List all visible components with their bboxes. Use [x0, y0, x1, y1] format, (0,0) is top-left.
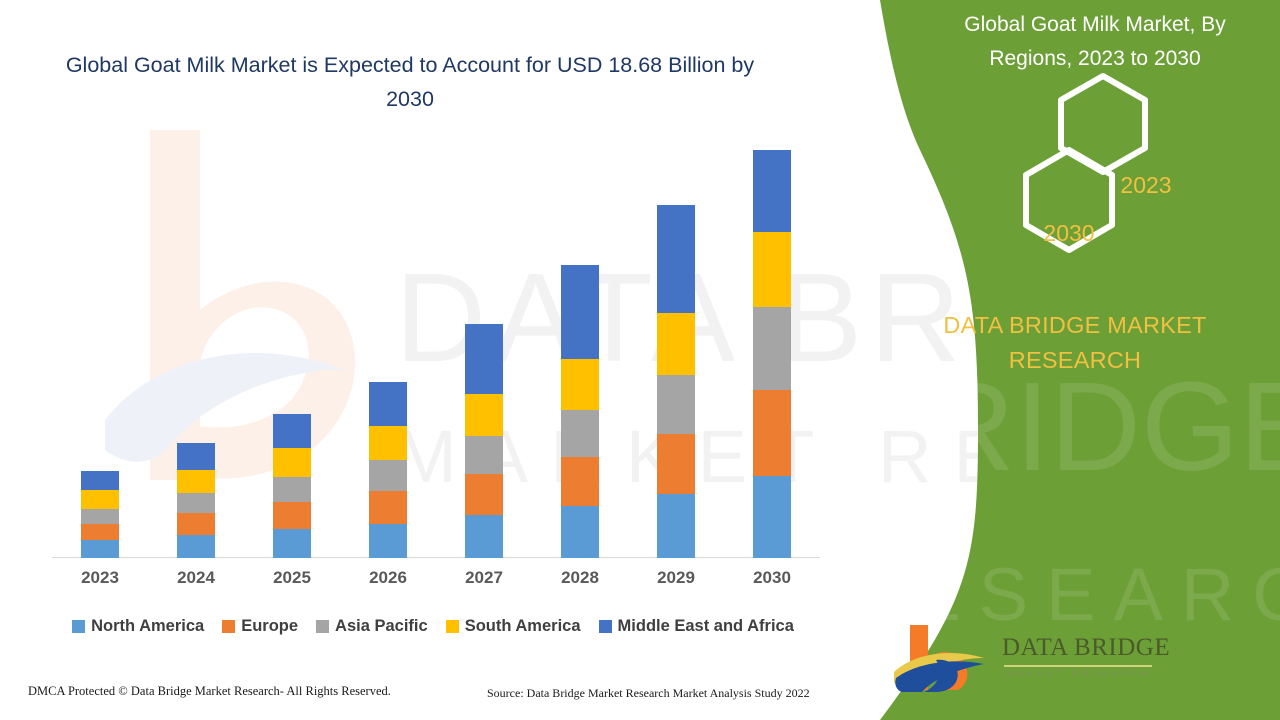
- bar-segment: [273, 502, 311, 530]
- bar-column: [561, 265, 599, 558]
- logo-subtitle: MARKET RESEARCH: [1006, 668, 1153, 678]
- x-axis-tick-label: 2028: [532, 568, 628, 588]
- bar-series-container: [52, 140, 820, 558]
- bar-column: [81, 471, 119, 558]
- legend-label: Middle East and Africa: [618, 617, 794, 636]
- bar-segment: [753, 307, 791, 390]
- bar-column: [177, 443, 215, 558]
- bar-segment: [465, 436, 503, 475]
- bar-column: [753, 150, 791, 558]
- bar-segment: [465, 324, 503, 394]
- footer-copyright: DMCA Protected © Data Bridge Market Rese…: [28, 684, 391, 699]
- bar-segment: [657, 375, 695, 433]
- legend-swatch-icon: [599, 620, 612, 633]
- x-axis-tick-label: 2023: [52, 568, 148, 588]
- data-bridge-b-logo: [892, 620, 992, 695]
- legend-item[interactable]: South America: [446, 617, 581, 636]
- bar-segment: [369, 426, 407, 460]
- bar-segment: [177, 470, 215, 493]
- bar-segment: [753, 476, 791, 559]
- bar-segment: [81, 490, 119, 509]
- bar-segment: [369, 491, 407, 524]
- legend-swatch-icon: [446, 620, 459, 633]
- bar-segment: [657, 434, 695, 495]
- footer-source: Source: Data Bridge Market Research Mark…: [487, 686, 810, 701]
- bar-segment: [273, 448, 311, 477]
- bar-column: [465, 324, 503, 558]
- bar-segment: [561, 506, 599, 558]
- legend-item[interactable]: North America: [72, 617, 204, 636]
- bar-segment: [273, 414, 311, 448]
- legend-label: South America: [465, 617, 581, 636]
- legend-label: North America: [91, 617, 204, 636]
- company-logo: DATA BRIDGE MARKET RESEARCH: [892, 620, 1162, 700]
- bar-segment: [753, 232, 791, 307]
- bar-segment: [465, 515, 503, 558]
- hexagon-2030-label: 2030: [1027, 220, 1111, 247]
- bar-column: [273, 414, 311, 558]
- bar-column: [657, 205, 695, 558]
- bar-segment: [753, 150, 791, 233]
- bar-segment: [561, 410, 599, 457]
- bar-segment: [561, 359, 599, 410]
- x-axis-tick-label: 2024: [148, 568, 244, 588]
- bar-segment: [81, 471, 119, 490]
- legend-swatch-icon: [316, 620, 329, 633]
- x-axis-tick-label: 2030: [724, 568, 820, 588]
- bar-column: [369, 382, 407, 558]
- legend-label: Europe: [241, 617, 298, 636]
- bar-segment: [81, 540, 119, 558]
- legend-item[interactable]: Europe: [222, 617, 298, 636]
- right-green-panel: BRIDGE RESEARCH Global Goat Milk Market,…: [850, 0, 1280, 720]
- hexagon-group: 2023 2030: [850, 0, 1280, 320]
- x-axis-tick-label: 2027: [436, 568, 532, 588]
- bar-segment: [465, 474, 503, 515]
- bar-segment: [657, 313, 695, 376]
- legend-swatch-icon: [222, 620, 235, 633]
- bar-segment: [561, 265, 599, 359]
- logo-title: DATA BRIDGE: [1002, 634, 1170, 662]
- bar-segment: [177, 535, 215, 558]
- bar-segment: [465, 394, 503, 436]
- bar-segment: [561, 457, 599, 507]
- bar-segment: [177, 513, 215, 535]
- bar-segment: [657, 205, 695, 313]
- bar-segment: [369, 460, 407, 491]
- legend-label: Asia Pacific: [335, 617, 428, 636]
- hexagon-2023-shape: [1061, 76, 1145, 172]
- bar-segment: [273, 529, 311, 558]
- bar-segment: [81, 524, 119, 541]
- x-axis-labels: 20232024202520262027202820292030: [52, 568, 820, 598]
- bar-segment: [177, 493, 215, 513]
- x-axis-tick-label: 2026: [340, 568, 436, 588]
- bar-segment: [369, 524, 407, 558]
- bar-segment: [273, 477, 311, 502]
- bar-segment: [753, 390, 791, 476]
- infographic-root: DATA BRIDGE MARKET RESEARCH Global Goat …: [0, 0, 1280, 720]
- chart-legend: North AmericaEuropeAsia PacificSouth Ame…: [52, 617, 832, 636]
- legend-swatch-icon: [72, 620, 85, 633]
- bar-segment: [657, 494, 695, 558]
- legend-item[interactable]: Middle East and Africa: [599, 617, 794, 636]
- hexagon-2023-label: 2023: [1106, 172, 1186, 199]
- logo-divider: [1004, 665, 1152, 667]
- chart-plot-area: [0, 0, 860, 600]
- bar-segment: [177, 443, 215, 471]
- legend-item[interactable]: Asia Pacific: [316, 617, 428, 636]
- bar-segment: [369, 382, 407, 426]
- x-axis-tick-label: 2029: [628, 568, 724, 588]
- brand-name: DATA BRIDGE MARKET RESEARCH: [910, 308, 1240, 378]
- x-axis-tick-label: 2025: [244, 568, 340, 588]
- bar-segment: [81, 509, 119, 524]
- hexagon-svg: [850, 0, 1280, 320]
